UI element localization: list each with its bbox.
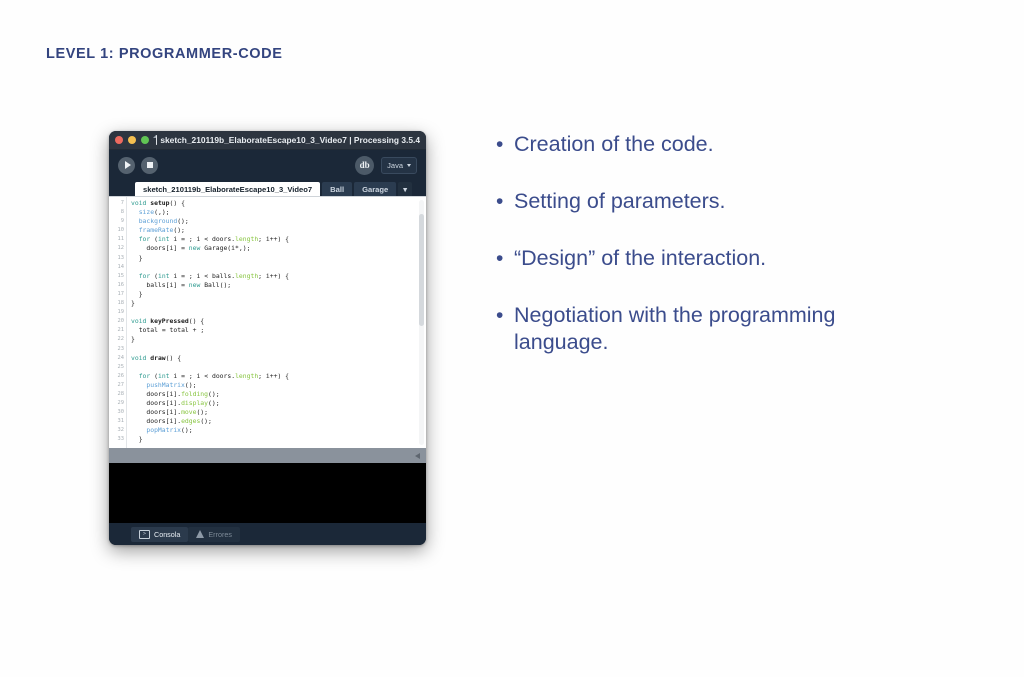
line-number: 8 [109,208,124,217]
line-number: 30 [109,408,124,417]
code-line [131,345,426,354]
line-number: 13 [109,254,124,263]
line-number: 15 [109,272,124,281]
code-line: size(,); [131,208,426,217]
status-bar: > Consola Errores [109,523,426,545]
code-line: doors[i].move(); [131,408,426,417]
line-number: 20 [109,317,124,326]
line-number: 17 [109,290,124,299]
window-titlebar[interactable]: sketch_210119b_ElaborateEscape10_3_Video… [109,131,426,150]
tab-garage[interactable]: Garage [354,182,396,196]
line-number: 18 [109,299,124,308]
chevron-down-icon [407,164,411,167]
line-number: 9 [109,217,124,226]
run-button[interactable] [118,157,135,174]
line-number: 27 [109,381,124,390]
status-tab-console[interactable]: > Consola [131,527,188,542]
console-output [109,463,426,523]
status-tab-console-label: Consola [154,530,180,539]
debug-icon[interactable]: db [355,156,374,175]
page-title: LEVEL 1: PROGRAMMER-CODE [46,46,282,62]
code-line: void keyPressed() { [131,317,426,326]
minimize-icon[interactable] [128,136,136,144]
bullet-list: • Creation of the code. • Setting of par… [496,131,916,386]
bullet-marker-icon: • [496,188,514,215]
status-tab-errors[interactable]: Errores [188,527,240,542]
bullet-marker-icon: • [496,131,514,158]
list-item: • Setting of parameters. [496,188,916,215]
code-editor[interactable]: 7891011121314151617181920212223242526272… [109,196,426,448]
line-number: 31 [109,417,124,426]
code-line [131,363,426,372]
code-line: frameRate(); [131,226,426,235]
bullet-text: Negotiation with the programming languag… [514,302,916,356]
code-line: for (int i = ; i < balls.length; i++) { [131,272,426,281]
collapse-arrow-icon[interactable] [415,453,420,459]
line-number: 21 [109,326,124,335]
mode-selector[interactable]: Java [381,157,417,174]
editor-scrollbar[interactable] [419,200,424,445]
code-line: } [131,435,426,444]
sketch-tab-strip: sketch_210119b_ElaborateEscape10_3_Video… [109,180,426,196]
mode-selector-label: Java [387,161,403,170]
line-number: 16 [109,281,124,290]
code-line: } [131,335,426,344]
tab-menu-button[interactable]: ▾ [398,182,412,196]
zoom-icon[interactable] [141,136,149,144]
line-number: 29 [109,399,124,408]
list-item: • “Design” of the interaction. [496,245,916,272]
code-line: } [131,290,426,299]
code-line: doors[i].folding(); [131,390,426,399]
code-line: pushMatrix(); [131,381,426,390]
ide-toolbar: db Java [109,150,426,180]
editor-scrollbar-thumb[interactable] [419,214,424,326]
code-line: doors[i].edges(); [131,417,426,426]
line-number: 7 [109,199,124,208]
line-number: 19 [109,308,124,317]
line-number: 28 [109,390,124,399]
code-line: } [131,254,426,263]
line-number: 22 [109,335,124,344]
warning-icon [196,530,204,538]
bullet-text: Setting of parameters. [514,188,726,215]
code-line: void setup() { [131,199,426,208]
code-line: for (int i = ; i < doors.length; i++) { [131,372,426,381]
tab-ball[interactable]: Ball [322,182,352,196]
close-icon[interactable] [115,136,123,144]
code-line: doors[i].display(); [131,399,426,408]
list-item: • Creation of the code. [496,131,916,158]
line-number: 14 [109,263,124,272]
line-number: 33 [109,435,124,444]
window-title: sketch_210119b_ElaborateEscape10_3_Video… [160,135,420,145]
code-line: } [131,299,426,308]
line-number: 23 [109,345,124,354]
code-line [131,263,426,272]
play-icon [125,161,131,169]
code-line [131,308,426,317]
window-controls[interactable] [115,136,149,144]
code-content[interactable]: void setup() { size(,); background(); fr… [127,197,426,448]
stop-button[interactable] [141,157,158,174]
code-line: total = total + ; [131,326,426,335]
line-number: 32 [109,426,124,435]
line-number: 24 [109,354,124,363]
code-line: background(); [131,217,426,226]
line-number: 26 [109,372,124,381]
code-line: popMatrix(); [131,426,426,435]
line-number-gutter: 7891011121314151617181920212223242526272… [109,197,127,448]
console-icon: > [139,530,150,539]
line-number: 25 [109,363,124,372]
line-number: 10 [109,226,124,235]
line-number: 12 [109,244,124,253]
code-line: void draw() { [131,354,426,363]
stop-icon [147,162,153,168]
status-tab-errors-label: Errores [208,530,232,539]
bullet-text: Creation of the code. [514,131,714,158]
line-number: 11 [109,235,124,244]
code-line: balls[i] = new Ball(); [131,281,426,290]
code-line: for (int i = ; i < doors.length; i++) { [131,235,426,244]
bullet-marker-icon: • [496,302,514,329]
list-item: • Negotiation with the programming langu… [496,302,916,356]
processing-ide-window: sketch_210119b_ElaborateEscape10_3_Video… [109,131,426,545]
editor-console-divider[interactable] [109,448,426,463]
bullet-text: “Design” of the interaction. [514,245,766,272]
tab-sketch-main[interactable]: sketch_210119b_ElaborateEscape10_3_Video… [135,182,320,196]
code-line: doors[i] = new Garage(i*,); [131,244,426,253]
bullet-marker-icon: • [496,245,514,272]
